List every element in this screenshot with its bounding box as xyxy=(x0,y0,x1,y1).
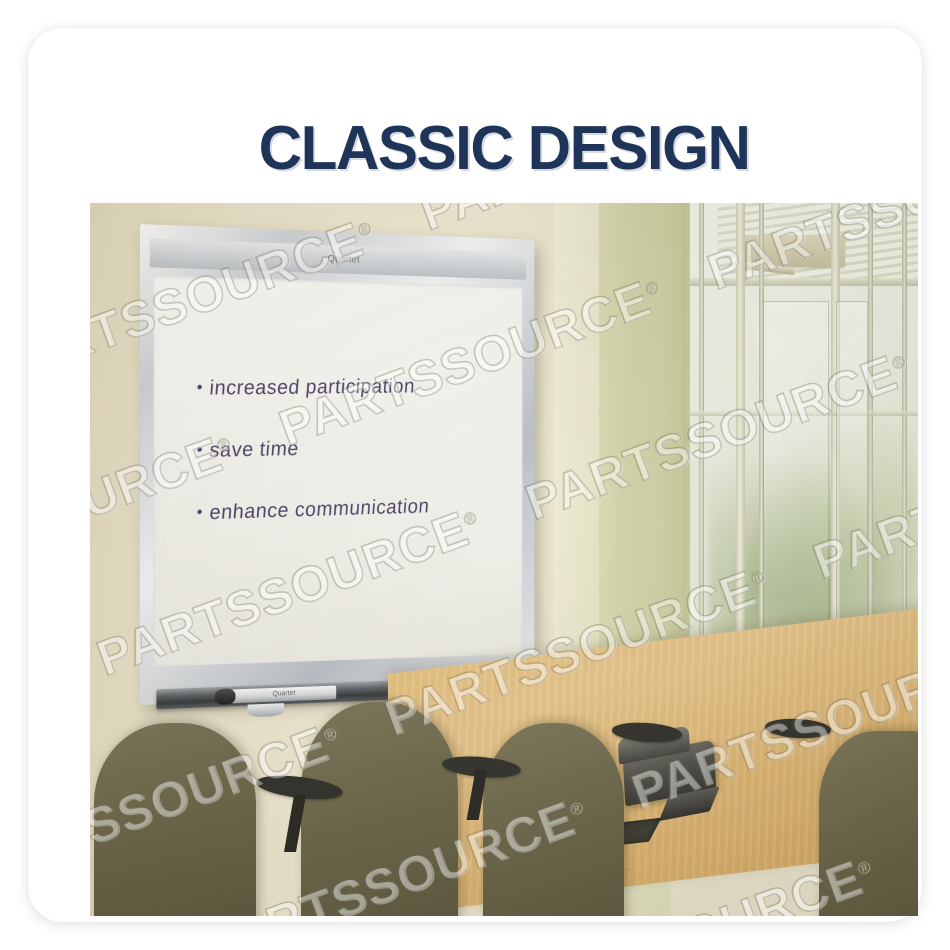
whiteboard-note-1: increased participation xyxy=(195,375,509,398)
product-photo: Quartet increased participation save tim… xyxy=(90,203,918,916)
office-chair xyxy=(94,723,255,916)
door-head-rail xyxy=(690,278,918,286)
whiteboard-brand-label: Quartet xyxy=(327,255,359,267)
product-card: CLASSIC DESIGN xyxy=(28,28,922,922)
door-closer xyxy=(740,235,845,267)
page-title: CLASSIC DESIGN xyxy=(259,113,750,184)
office-chair xyxy=(819,731,918,916)
office-chair xyxy=(301,702,458,916)
conference-phone xyxy=(623,740,717,807)
whiteboard: Quartet increased participation save tim… xyxy=(140,224,534,705)
office-chair xyxy=(483,723,624,916)
whiteboard-surface: increased participation save time enhanc… xyxy=(153,275,522,666)
whiteboard-note-3: enhance communication xyxy=(195,494,509,524)
page-root: CLASSIC DESIGN xyxy=(0,0,950,950)
glass-pane xyxy=(763,301,829,661)
glass-pane xyxy=(836,301,868,661)
title-band: CLASSIC DESIGN xyxy=(90,90,918,203)
whiteboard-notes: increased participation save time enhanc… xyxy=(196,378,508,565)
marker-brand-label: Quartet xyxy=(272,691,295,699)
whiteboard-note-2: save time xyxy=(195,435,509,461)
